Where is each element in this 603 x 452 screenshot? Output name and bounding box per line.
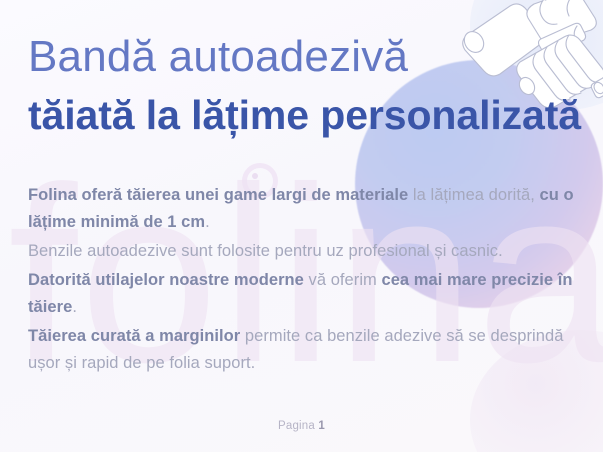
paragraph: Benzile autoadezive sunt folosite pentru… xyxy=(28,238,580,265)
paragraph: Datorită utilajelor noastre moderne vă o… xyxy=(28,267,580,321)
body-copy: Folina oferă tăierea unei game largi de … xyxy=(28,182,580,377)
footer-page-number: 1 xyxy=(318,420,325,432)
heading-group: Bandă autoadezivă tăiată la lățime perso… xyxy=(28,32,588,140)
paragraph: Folina oferă tăierea unei game largi de … xyxy=(28,182,580,236)
footer-label: Pagina xyxy=(278,420,315,432)
page-footer: Pagina 1 xyxy=(0,420,603,432)
slide-page: folina xyxy=(0,0,603,452)
page-title-line-1: Bandă autoadezivă xyxy=(28,32,588,82)
page-title-line-2: tăiată la lățime personalizată xyxy=(28,90,588,140)
paragraph: Tăierea curată a marginilor permite ca b… xyxy=(28,323,580,377)
